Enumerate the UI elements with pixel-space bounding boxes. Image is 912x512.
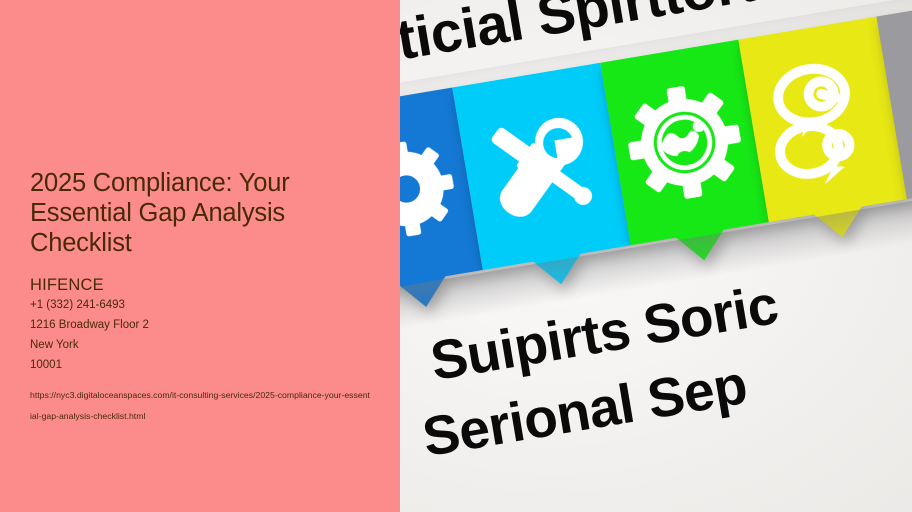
brand-name: HIFENCE [30, 275, 376, 295]
contact-address-zip: 10001 [30, 355, 376, 375]
banner-tail [400, 275, 451, 311]
banner-cyan [452, 63, 630, 270]
page-title: 2025 Compliance: Your Essential Gap Anal… [30, 168, 375, 258]
cover-image-panel: uticial Spirttort [400, 0, 912, 512]
contact-address-street: 1216 Broadway Floor 2 [30, 315, 376, 335]
document-preview-card: 2025 Compliance: Your Essential Gap Anal… [0, 0, 912, 512]
contact-address-city: New York [30, 335, 376, 355]
source-url[interactable]: https://nyc3.digitaloceanspaces.com/it-c… [30, 385, 370, 426]
contact-phone: +1 (332) 241-6493 [30, 295, 376, 315]
poster-surface: uticial Spirttort [400, 0, 912, 512]
info-panel-content: 2025 Compliance: Your Essential Gap Anal… [30, 168, 376, 426]
info-panel: 2025 Compliance: Your Essential Gap Anal… [0, 0, 400, 512]
crossed-wrench-screwdriver-icon [452, 63, 630, 270]
